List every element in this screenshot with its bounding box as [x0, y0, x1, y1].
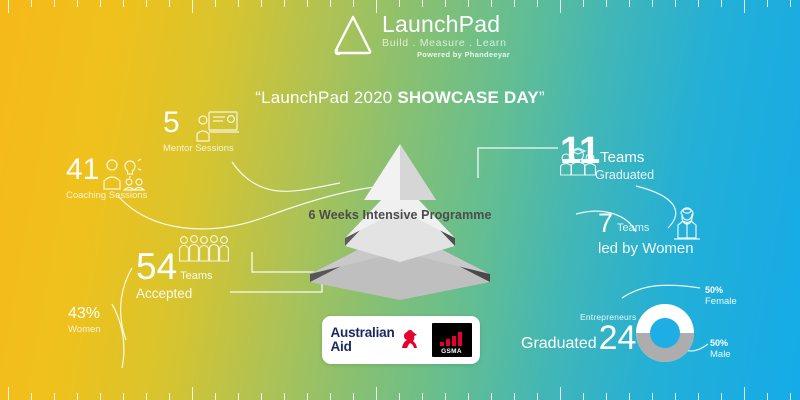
stat-women-percent: 43% Women: [68, 306, 101, 336]
pyramid-top-right-face: [400, 144, 436, 200]
pyramid-label: 6 Weeks Intensive Programme: [300, 208, 500, 222]
gender-donut-chart: [632, 300, 698, 366]
triangle-logo-icon: [330, 12, 376, 58]
australian-aid-line1: Australian: [330, 326, 394, 340]
people-group-icon: [178, 234, 230, 268]
headline-emphasis: SHOWCASE DAY: [397, 88, 539, 107]
donut-hole: [650, 318, 680, 348]
signal-bars-icon: [438, 331, 466, 346]
stat-coaching-label: Coaching Sessions: [66, 191, 147, 202]
legend-male-name: Male: [710, 349, 731, 360]
stat-led-by-women: 7Teams led by Women: [598, 210, 694, 258]
stat-accepted-number: 54: [136, 248, 177, 285]
gsma-logo: GSMA: [432, 323, 472, 357]
coaching-idea-icon: [100, 157, 146, 191]
kangaroo-icon: [397, 329, 423, 351]
australian-aid-logo: Australian Aid: [330, 326, 422, 354]
stat-women-number: 43%: [68, 306, 101, 322]
australian-aid-line2: Aid: [330, 340, 394, 354]
stat-accepted-unit: Teams: [180, 270, 212, 285]
infographic-canvas: LaunchPad Build . Measure . Learn Powere…: [0, 0, 800, 400]
woman-figure-icon: [670, 206, 704, 246]
stat-teams-graduated: 11Teams Graduated: [560, 132, 654, 182]
gsma-label: GSMA: [441, 348, 462, 355]
page-title: “LaunchPad 2020 SHOWCASE DAY”: [0, 88, 800, 108]
logo-wordmark: LaunchPad Build . Measure . Learn Powere…: [382, 12, 510, 60]
legend-female-name: Female: [705, 296, 737, 307]
legend-male-percent: 50%: [710, 338, 731, 349]
legend-female-percent: 50%: [705, 285, 737, 296]
graduates-group-icon: [558, 146, 600, 176]
logo-tagline: Build . Measure . Learn: [382, 36, 510, 50]
presentation-mentor-icon: [195, 110, 239, 144]
sponsor-card: Australian Aid GSMA: [322, 316, 480, 364]
stat-entrepreneurs-graduated: Entrepreneurs Graduated24: [521, 312, 636, 355]
stat-mentor-label: Mentor Sessions: [163, 144, 234, 155]
stat-teams-accepted: 54Teams Accepted: [136, 248, 213, 301]
stat-graduated-unit: Teams: [600, 149, 644, 170]
stat-mentor-sessions: 5 Mentor Sessions: [163, 108, 234, 155]
curve-teams-accepted-bracket: [121, 268, 132, 340]
stat-entrepreneurs-label: Graduated: [521, 335, 597, 355]
stat-led-number: 7: [598, 210, 613, 237]
donut-legend-male: 50% Male: [710, 338, 731, 360]
curve-women-bracket: [112, 304, 124, 368]
stat-coaching-sessions: 41 Coaching Sessions: [66, 155, 147, 202]
stat-accepted-label: Accepted: [136, 286, 213, 301]
stat-graduated-label: Graduated: [595, 168, 654, 182]
headline-prefix: LaunchPad 2020: [261, 88, 397, 107]
logo-powered-by: Powered by Phandeeyar: [382, 50, 510, 60]
donut-legend-female: 50% Female: [705, 285, 737, 307]
launchpad-logo: LaunchPad Build . Measure . Learn Powere…: [330, 8, 510, 64]
stat-led-unit: Teams: [617, 222, 649, 237]
logo-name: LaunchPad: [382, 12, 510, 36]
stat-women-label: Women: [68, 325, 101, 336]
curve-donut-female-leader: [622, 285, 700, 298]
stat-entrepreneurs-number: 24: [599, 321, 637, 355]
headline-close-quote: ”: [539, 88, 545, 107]
